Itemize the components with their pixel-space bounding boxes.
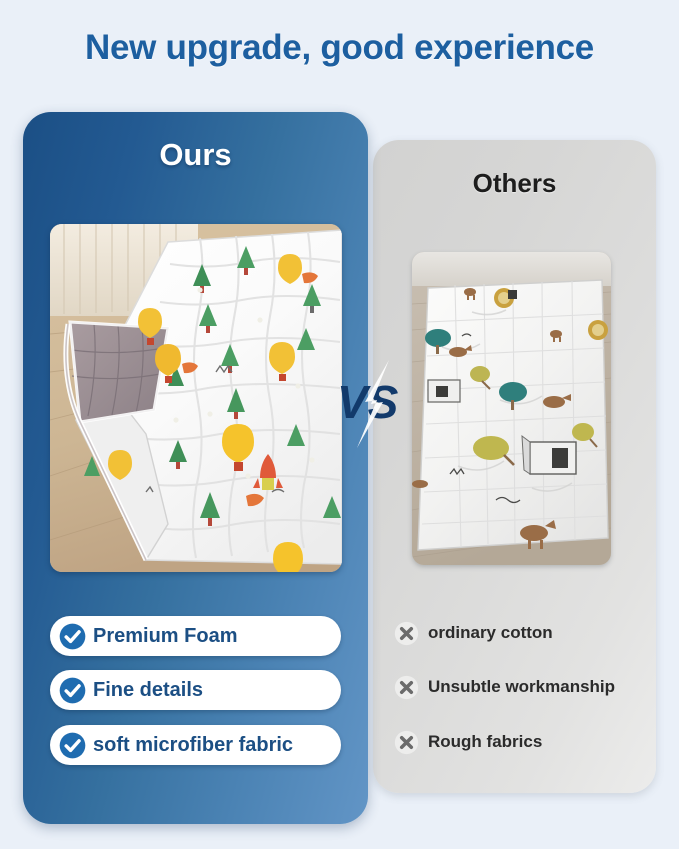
- list-item-label: Rough fabrics: [428, 732, 542, 752]
- others-card: Others: [373, 140, 656, 793]
- x-circle-icon: [394, 621, 419, 646]
- feature-pill: soft microfiber fabric: [50, 725, 341, 765]
- list-item: Rough fabrics: [394, 727, 542, 757]
- list-item: ordinary cotton: [394, 618, 553, 648]
- page-title: New upgrade, good experience: [0, 28, 679, 68]
- check-circle-icon: [59, 732, 86, 759]
- ours-card: Ours: [23, 112, 368, 824]
- x-circle-icon: [394, 675, 419, 700]
- feature-pill: Fine details: [50, 670, 341, 710]
- list-item-label: Unsubtle workmanship: [428, 677, 615, 697]
- check-circle-icon: [59, 623, 86, 650]
- feature-pill-label: Premium Foam: [93, 625, 237, 648]
- ours-product-photo: [50, 224, 342, 572]
- x-circle-icon: [394, 730, 419, 755]
- ours-heading: Ours: [23, 137, 368, 173]
- check-circle-icon: [59, 677, 86, 704]
- feature-pill-label: soft microfiber fabric: [93, 734, 293, 757]
- list-item: Unsubtle workmanship: [394, 672, 615, 702]
- list-item-label: ordinary cotton: [428, 623, 553, 643]
- others-product-photo: [412, 252, 611, 565]
- feature-pill: Premium Foam: [50, 616, 341, 656]
- feature-pill-label: Fine details: [93, 679, 203, 702]
- others-heading: Others: [373, 168, 656, 199]
